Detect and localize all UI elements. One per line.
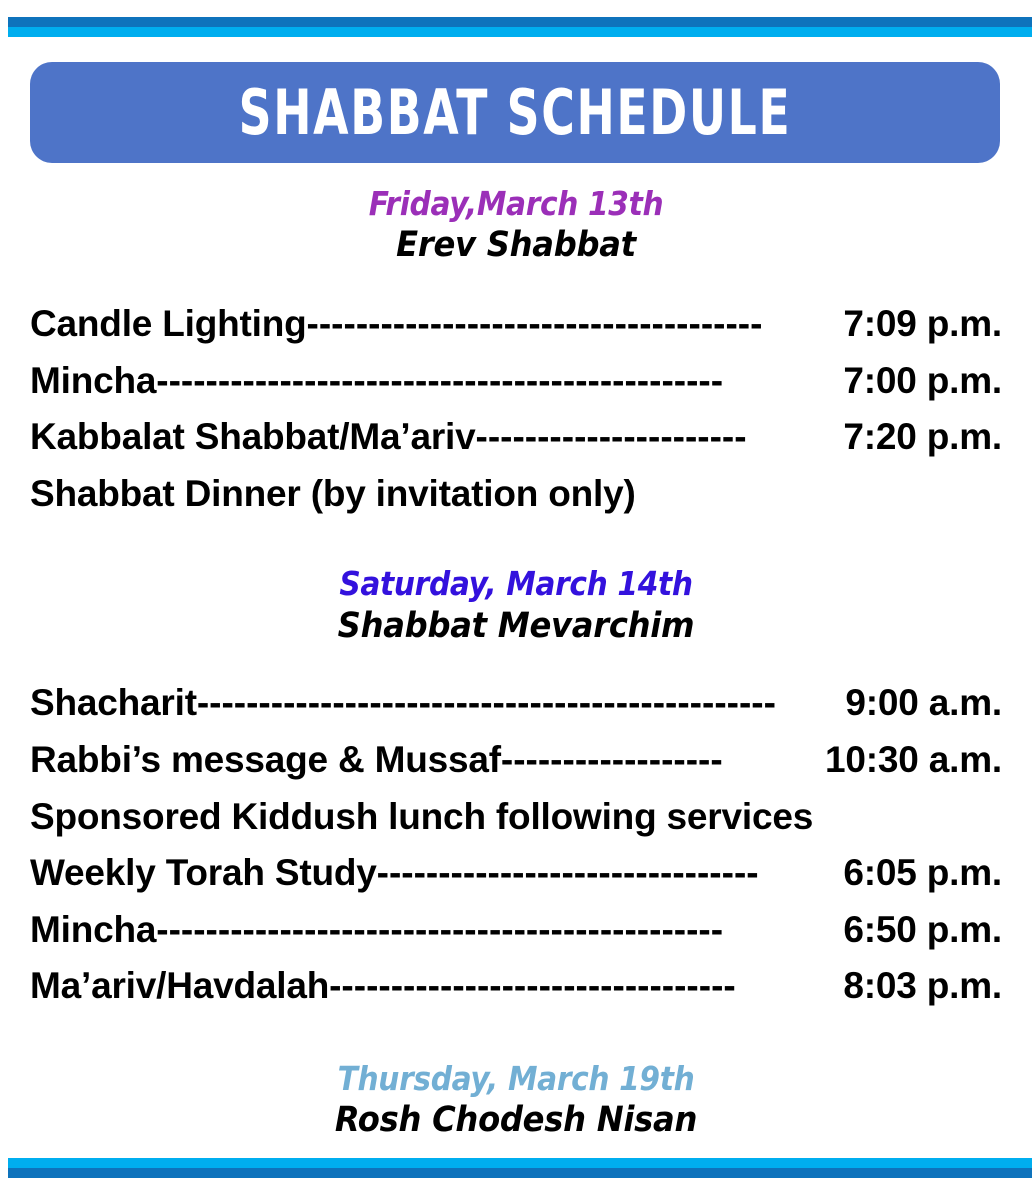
row-time: 7:09 p.m. — [843, 296, 1002, 353]
schedule-row: Mincha ---------------------------------… — [0, 353, 1032, 410]
schedule-row: Shabbat Dinner (by invitation only) — [0, 466, 1032, 523]
row-label: Mincha — [30, 353, 156, 410]
section-heading-saturday: Saturday, March 14th Shabbat Mevarchim — [0, 564, 1032, 648]
row-time: 9:00 a.m. — [845, 675, 1002, 732]
row-label: Kabbalat Shabbat/Ma’ariv — [30, 409, 476, 466]
schedule-list-friday: Candle Lighting ------------------------… — [0, 296, 1032, 522]
bottom-rule-dark-band — [8, 1168, 1032, 1178]
row-label: Mincha — [30, 902, 156, 959]
row-time: 6:05 p.m. — [843, 845, 1002, 902]
section-heading-thursday: Thursday, March 19th Rosh Chodesh Nisan — [0, 1059, 1032, 1143]
page-title: SHABBAT SCHEDULE — [239, 82, 792, 144]
row-label: Ma’ariv/Havdalah — [30, 958, 329, 1015]
row-leader: --------------------------------- — [329, 958, 843, 1015]
schedule-row: Sponsored Kiddush lunch following servic… — [0, 789, 1032, 846]
row-leader: ------------------ — [501, 732, 825, 789]
schedule-row: Candle Lighting ------------------------… — [0, 296, 1032, 353]
top-rule-light-band — [8, 27, 1032, 37]
section-date-thursday: Thursday, March 19th — [52, 1059, 981, 1099]
bottom-rule-light-band — [8, 1158, 1032, 1168]
schedule-row: Shacharit ------------------------------… — [0, 675, 1032, 732]
title-banner: SHABBAT SCHEDULE — [30, 62, 1000, 163]
schedule-row: Rabbi’s message & Mussaf ---------------… — [0, 732, 1032, 789]
section-subtitle-friday: Erev Shabbat — [41, 224, 990, 268]
row-time: 8:03 p.m. — [843, 958, 1002, 1015]
row-label: Shabbat Dinner (by invitation only) — [30, 466, 636, 523]
section-date-friday: Friday,March 13th — [52, 184, 981, 224]
row-time: 6:50 p.m. — [843, 902, 1002, 959]
row-label: Weekly Torah Study — [30, 845, 377, 902]
schedule-row: Ma’ariv/Havdalah -----------------------… — [0, 958, 1032, 1015]
bottom-decorative-rule — [8, 1158, 1032, 1178]
row-leader: ------------------------------- — [377, 845, 844, 902]
section-subtitle-saturday: Shabbat Mevarchim — [41, 605, 990, 649]
row-time: 7:20 p.m. — [843, 409, 1002, 466]
row-time: 7:00 p.m. — [843, 353, 1002, 410]
schedule-row: Mincha ---------------------------------… — [0, 902, 1032, 959]
top-rule-dark-band — [8, 17, 1032, 27]
row-leader: ----------------------------------------… — [156, 353, 843, 410]
schedule-content: Friday,March 13th Erev Shabbat Candle Li… — [0, 180, 1032, 1143]
shabbat-schedule-page: SHABBAT SCHEDULE Friday,March 13th Erev … — [0, 0, 1032, 1200]
section-heading-friday: Friday,March 13th Erev Shabbat — [0, 184, 1032, 268]
row-label: Shacharit — [30, 675, 197, 732]
row-time: 10:30 a.m. — [825, 732, 1002, 789]
row-leader: ------------------------------------- — [307, 296, 844, 353]
row-leader: ---------------------- — [476, 409, 844, 466]
top-decorative-rule — [8, 17, 1032, 37]
row-label: Candle Lighting — [30, 296, 307, 353]
schedule-row: Kabbalat Shabbat/Ma’ariv ---------------… — [0, 409, 1032, 466]
row-leader: ----------------------------------------… — [156, 902, 843, 959]
section-date-saturday: Saturday, March 14th — [52, 564, 981, 604]
row-leader: ----------------------------------------… — [197, 675, 846, 732]
section-subtitle-thursday: Rosh Chodesh Nisan — [41, 1099, 990, 1143]
row-label: Rabbi’s message & Mussaf — [30, 732, 501, 789]
schedule-row: Weekly Torah Study ---------------------… — [0, 845, 1032, 902]
schedule-list-saturday: Shacharit ------------------------------… — [0, 675, 1032, 1015]
row-label: Sponsored Kiddush lunch following servic… — [30, 789, 813, 846]
